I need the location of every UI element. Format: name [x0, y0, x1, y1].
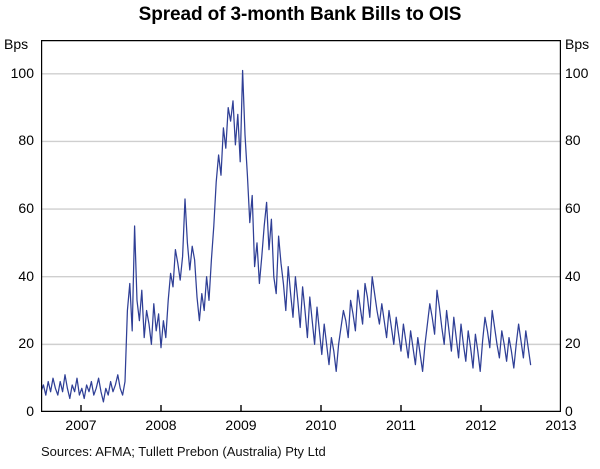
- y-tick-label-left: 40: [0, 268, 34, 284]
- y-tick-label-left: 20: [0, 335, 34, 351]
- chart-figure: Spread of 3-month Bank Bills to OIS Bps …: [0, 0, 600, 469]
- x-tick-label: 2010: [296, 417, 346, 433]
- plot-area: [41, 40, 561, 412]
- source-note: Sources: AFMA; Tullett Prebon (Australia…: [41, 444, 326, 459]
- y-tick-label-right: 100: [565, 65, 600, 81]
- y-tick-label-right: 60: [565, 200, 600, 216]
- y-tick-label-left: 80: [0, 132, 34, 148]
- y-tick-label-left: 0: [0, 403, 34, 419]
- y-axis-unit-left: Bps: [4, 36, 28, 52]
- y-tick-label-right: 80: [565, 132, 600, 148]
- y-tick-label-right: 20: [565, 335, 600, 351]
- plot-frame: [41, 40, 561, 412]
- x-tick-label: 2012: [456, 417, 506, 433]
- chart-title: Spread of 3-month Bank Bills to OIS: [0, 4, 600, 26]
- y-tick-label-right: 40: [565, 268, 600, 284]
- x-tick-label: 2011: [376, 417, 426, 433]
- y-tick-label-left: 100: [0, 65, 34, 81]
- chart-plot-svg: [41, 40, 561, 412]
- data-series-group: [41, 70, 531, 401]
- x-tick-label: 2009: [216, 417, 266, 433]
- x-tick-label: 2007: [56, 417, 106, 433]
- x-tick-label: 2013: [536, 417, 586, 433]
- y-tick-label-left: 60: [0, 200, 34, 216]
- y-axis-unit-right: Bps: [565, 36, 589, 52]
- x-tick-label: 2008: [136, 417, 186, 433]
